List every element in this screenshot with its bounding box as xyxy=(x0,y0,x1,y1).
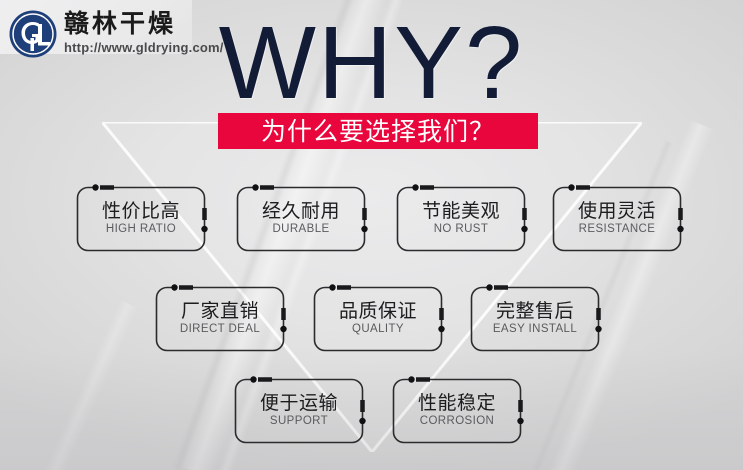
card-frame xyxy=(155,286,285,352)
subtitle-banner-text: 为什么要选择我们？ xyxy=(261,119,495,144)
feature-card-no-rust[interactable]: 节能美观 NO RUST xyxy=(396,186,526,252)
card-frame xyxy=(76,186,206,252)
feature-card-durable[interactable]: 经久耐用 DURABLE xyxy=(236,186,366,252)
feature-card-quality[interactable]: 品质保证 QUALITY xyxy=(313,286,443,352)
bottom-vignette xyxy=(0,350,743,470)
page-title: WHY? xyxy=(0,14,743,113)
feature-card-high-ratio[interactable]: 性价比高 HIGH RATIO xyxy=(76,186,206,252)
subtitle-banner: 为什么要选择我们？ xyxy=(218,113,538,149)
feature-card-easy-install[interactable]: 完整售后 EASY INSTALL xyxy=(470,286,600,352)
poster-canvas: 赣林干燥 http://www.gldrying.com/ WHY? 为什么要选… xyxy=(0,0,743,470)
feature-card-direct-deal[interactable]: 厂家直销 DIRECT DEAL xyxy=(155,286,285,352)
feature-card-corrosion[interactable]: 性能稳定 CORROSION xyxy=(392,378,522,444)
card-frame xyxy=(552,186,682,252)
feature-card-support[interactable]: 便于运输 SUPPORT xyxy=(234,378,364,444)
card-frame xyxy=(236,186,366,252)
card-frame xyxy=(234,378,364,444)
feature-card-resistance[interactable]: 使用灵活 RESISTANCE xyxy=(552,186,682,252)
card-frame xyxy=(396,186,526,252)
card-frame xyxy=(470,286,600,352)
card-frame xyxy=(392,378,522,444)
bg-streak xyxy=(0,300,138,470)
card-frame xyxy=(313,286,443,352)
